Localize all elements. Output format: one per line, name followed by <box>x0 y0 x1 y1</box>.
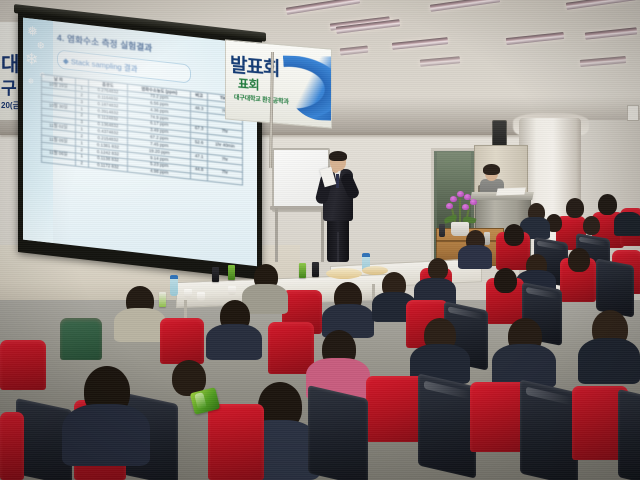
audience-head <box>504 224 524 246</box>
ceiling-light-icon <box>420 56 460 66</box>
seat-back[interactable] <box>0 340 46 390</box>
snack-plate <box>326 268 362 279</box>
presenter-necktie <box>336 174 339 188</box>
orchid-flower-icon <box>457 191 464 197</box>
banner-org: 대구대학교 환경공학과 <box>234 92 289 106</box>
orchid-flower-icon <box>462 204 469 210</box>
audience-shoulders <box>114 308 166 342</box>
slide-data-table: 날 짜 흡광도 염화수소농도 (ppm) 비고 Time 10월 29일10.2… <box>41 74 243 186</box>
projection-screen-surface: ❅ ❆ ❄ ❅ ❆ 4. 염화수소 측정 실험결과 ◆ Stack sampli… <box>23 18 257 267</box>
audience-head <box>566 198 584 218</box>
event-banner: 발표회 표회 대구대학교 환경공학과 <box>225 39 332 128</box>
beverage-can <box>212 267 219 282</box>
presentation-slide: ❅ ❆ ❄ ❅ ❆ 4. 염화수소 측정 실험결과 ◆ Stack sampli… <box>23 18 257 267</box>
audience-shoulders <box>206 324 262 360</box>
audience-head <box>568 248 590 272</box>
ceiling-light-icon <box>506 32 564 45</box>
podium-host-hair <box>483 164 500 175</box>
orchid-stem <box>459 198 461 224</box>
orchid-flower-icon <box>450 196 457 202</box>
audience-head <box>598 194 617 215</box>
ceiling-light-icon <box>286 0 360 15</box>
seat-pan[interactable] <box>596 258 634 317</box>
seat-pan[interactable] <box>618 389 640 480</box>
water-bottle <box>170 277 178 296</box>
flower-pot <box>451 222 469 236</box>
left-banner-line2: 구 <box>1 74 17 99</box>
seat-back[interactable] <box>208 404 264 480</box>
ceiling-light-icon <box>430 0 500 12</box>
bottle-cap <box>362 253 370 257</box>
left-banner-line1: 대 <box>1 48 19 77</box>
banner-subtitle: 표회 <box>238 74 259 93</box>
snowflake-icon: ❅ <box>27 24 38 38</box>
small-bottle <box>439 224 445 237</box>
lectern-documents <box>496 188 526 196</box>
conference-photo: 대 구 20(금) ❅ ❆ ❄ ❅ ❆ 4. 염화수소 측정 실험결과 ◆ St… <box>0 0 640 480</box>
snowflake-icon: ❄ <box>25 52 38 70</box>
wall-switch-plate <box>627 105 639 121</box>
ceiling-light-icon <box>392 37 448 50</box>
audience-head <box>494 268 517 293</box>
orchid-flower-icon <box>446 203 453 209</box>
seat-back[interactable] <box>268 322 314 374</box>
seat-pan[interactable] <box>308 385 368 480</box>
beverage-can <box>159 292 166 307</box>
beverage-can <box>299 263 306 278</box>
bottle-cap <box>170 275 178 279</box>
snowflake-icon: ❆ <box>28 78 34 86</box>
presenter-hair <box>329 151 347 161</box>
beverage-can <box>312 262 319 277</box>
whiteboard-leg <box>275 208 278 262</box>
audience-head <box>428 258 448 280</box>
paper-cup <box>184 289 192 298</box>
audience-shoulders <box>62 404 150 466</box>
seat-back[interactable] <box>366 376 426 442</box>
presenter-leg-split <box>337 232 339 262</box>
audience-shoulders <box>614 212 640 236</box>
paper-cup <box>197 292 205 301</box>
ceiling-light-icon <box>340 46 369 56</box>
ceiling-light-icon <box>585 27 637 39</box>
seat-back[interactable] <box>60 318 102 360</box>
presenter <box>316 152 364 264</box>
ceiling-light-icon <box>580 56 626 67</box>
snack-plate <box>362 266 388 275</box>
ceiling-light-icon <box>566 0 636 10</box>
audience-shoulders <box>458 245 492 269</box>
audience-shoulders <box>578 338 640 384</box>
beverage-can <box>228 265 235 280</box>
seat-back[interactable] <box>160 318 204 364</box>
audience-head <box>583 216 600 235</box>
orchid-flower-icon <box>470 199 477 205</box>
paper-cup <box>228 286 236 295</box>
snowflake-icon: ❆ <box>37 41 45 51</box>
banner-swoosh-graphic <box>283 55 332 120</box>
seat-back[interactable] <box>0 412 24 480</box>
